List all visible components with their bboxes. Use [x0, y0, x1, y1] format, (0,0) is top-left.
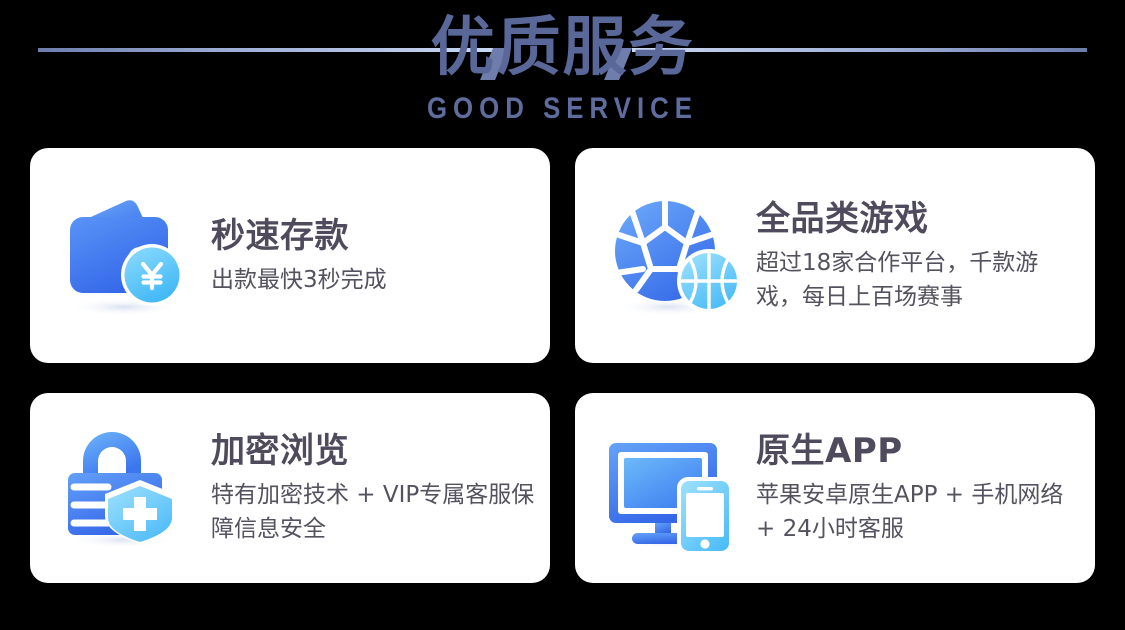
card-description: 苹果安卓原生APP + 手机网络 + 24小时客服	[756, 478, 1081, 546]
feature-card-deposit[interactable]: 秒速存款 出款最快3秒完成	[30, 148, 550, 363]
card-description: 特有加密技术 + VIP专属客服保障信息安全	[211, 478, 536, 546]
feature-card-encryption[interactable]: 加密浏览 特有加密技术 + VIP专属客服保障信息安全	[30, 393, 550, 583]
card-description: 出款最快3秒完成	[211, 263, 536, 297]
card-title: 秒速存款	[211, 215, 536, 257]
feature-card-text: 全品类游戏 超过18家合作平台，千款游戏，每日上百场赛事	[750, 198, 1095, 314]
feature-card-native-app[interactable]: 原生APP 苹果安卓原生APP + 手机网络 + 24小时客服	[575, 393, 1095, 583]
page-title: 优质服务	[0, 6, 1125, 90]
card-description: 超过18家合作平台，千款游戏，每日上百场赛事	[756, 246, 1081, 314]
feature-card-games[interactable]: 全品类游戏 超过18家合作平台，千款游戏，每日上百场赛事	[575, 148, 1095, 363]
page-subtitle: GOOD SERVICE	[79, 92, 1047, 126]
monitor-phone-icon	[605, 423, 750, 553]
promo-banner: 优质服务 GOOD SERVICE	[0, 0, 1125, 630]
wallet-yen-icon	[60, 191, 205, 321]
card-title: 全品类游戏	[756, 198, 1081, 240]
feature-card-text: 原生APP 苹果安卓原生APP + 手机网络 + 24小时客服	[750, 430, 1095, 546]
feature-card-text: 秒速存款 出款最快3秒完成	[205, 215, 550, 297]
card-title: 加密浏览	[211, 430, 536, 472]
lock-shield-icon	[60, 423, 205, 553]
feature-card-text: 加密浏览 特有加密技术 + VIP专属客服保障信息安全	[205, 430, 550, 546]
feature-card-grid: 秒速存款 出款最快3秒完成	[30, 148, 1095, 583]
header-title-block: 优质服务 GOOD SERVICE	[0, 6, 1125, 126]
card-title: 原生APP	[756, 430, 1081, 472]
soccer-basketball-icon	[605, 191, 750, 321]
banner-header: 优质服务 GOOD SERVICE	[0, 0, 1125, 146]
